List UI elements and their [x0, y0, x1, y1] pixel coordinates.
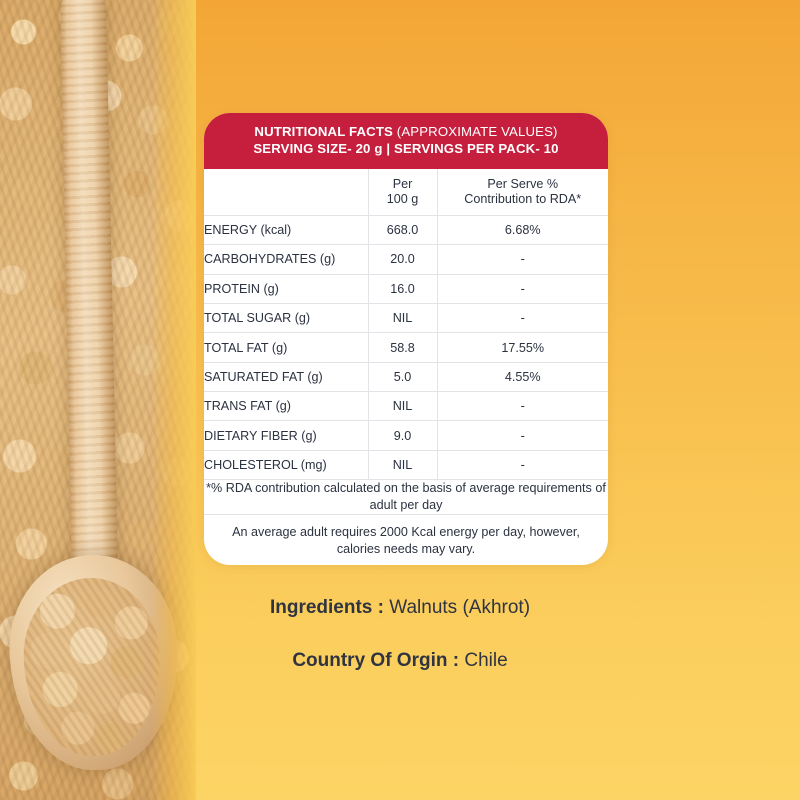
header-rda-line2: Contribution to RDA*	[464, 192, 581, 206]
nutrition-table-body: ENERGY (kcal) 668.0 6.68% CARBOHYDRATES …	[204, 215, 608, 565]
nutrition-header-line-1: NUTRITIONAL FACTS (APPROXIMATE VALUES)	[214, 124, 598, 141]
table-row: TOTAL FAT (g) 58.8 17.55%	[204, 333, 608, 362]
header-per-100g-line1: Per	[393, 177, 413, 191]
nutrient-rda: 17.55%	[437, 333, 608, 362]
nutrition-table-head: Per 100 g Per Serve % Contribution to RD…	[204, 169, 608, 215]
nutrient-rda: -	[437, 274, 608, 303]
nutrient-per-100g: NIL	[368, 303, 437, 332]
nutrient-per-100g: 20.0	[368, 245, 437, 274]
table-row: DIETARY FIBER (g) 9.0 -	[204, 421, 608, 450]
nutrition-table: Per 100 g Per Serve % Contribution to RD…	[204, 169, 608, 565]
table-row: CHOLESTEROL (mg) NIL -	[204, 450, 608, 479]
header-rda-line1: Per Serve %	[487, 177, 558, 191]
header-rda: Per Serve % Contribution to RDA*	[437, 169, 608, 215]
rda-note-row: *% RDA contribution calculated on the ba…	[204, 480, 608, 515]
nutrient-per-100g: 16.0	[368, 274, 437, 303]
nutrient-rda: -	[437, 392, 608, 421]
country-label: Country Of Orgin :	[292, 650, 464, 671]
table-row: TOTAL SUGAR (g) NIL -	[204, 303, 608, 332]
nutrient-rda: -	[437, 450, 608, 479]
header-per-100g: Per 100 g	[368, 169, 437, 215]
table-header-row: Per 100 g Per Serve % Contribution to RD…	[204, 169, 608, 215]
table-row: ENERGY (kcal) 668.0 6.68%	[204, 215, 608, 244]
nutrient-name: TRANS FAT (g)	[204, 392, 368, 421]
nutritional-facts-title: NUTRITIONAL FACTS	[254, 124, 393, 139]
nutrient-name: DIETARY FIBER (g)	[204, 421, 368, 450]
nutrient-name: CARBOHYDRATES (g)	[204, 245, 368, 274]
ingredients-label: Ingredients :	[270, 597, 389, 618]
table-row: CARBOHYDRATES (g) 20.0 -	[204, 245, 608, 274]
energy-note-row: An average adult requires 2000 Kcal ener…	[204, 515, 608, 565]
nutrient-rda: -	[437, 245, 608, 274]
product-photo-strip	[0, 0, 196, 800]
header-per-100g-line2: 100 g	[387, 192, 419, 206]
ingredients-value: Walnuts (Akhrot)	[389, 597, 530, 618]
table-row: PROTEIN (g) 16.0 -	[204, 274, 608, 303]
nutrient-name: PROTEIN (g)	[204, 274, 368, 303]
nutritional-facts-subtitle: (APPROXIMATE VALUES)	[393, 124, 558, 139]
table-row: SATURATED FAT (g) 5.0 4.55%	[204, 362, 608, 391]
table-row: TRANS FAT (g) NIL -	[204, 392, 608, 421]
nutrient-per-100g: 9.0	[368, 421, 437, 450]
country-value: Chile	[464, 650, 507, 671]
nutrient-per-100g: NIL	[368, 450, 437, 479]
energy-note-text: An average adult requires 2000 Kcal ener…	[204, 515, 608, 565]
nutrient-per-100g: 5.0	[368, 362, 437, 391]
nutrient-rda: 4.55%	[437, 362, 608, 391]
nutrient-rda: -	[437, 303, 608, 332]
nutrient-name: ENERGY (kcal)	[204, 215, 368, 244]
nutrient-per-100g: NIL	[368, 392, 437, 421]
photo-fade-edge	[150, 0, 196, 800]
nutrient-name: TOTAL FAT (g)	[204, 333, 368, 362]
nutrition-facts-card: NUTRITIONAL FACTS (APPROXIMATE VALUES) S…	[204, 113, 608, 565]
country-of-origin-line: Country Of Orgin : Chile	[0, 650, 800, 672]
nutrient-name: TOTAL SUGAR (g)	[204, 303, 368, 332]
nutrient-rda: -	[437, 421, 608, 450]
nutrient-name: SATURATED FAT (g)	[204, 362, 368, 391]
nutrient-per-100g: 58.8	[368, 333, 437, 362]
nutrient-per-100g: 668.0	[368, 215, 437, 244]
serving-info-line: SERVING SIZE- 20 g | SERVINGS PER PACK- …	[214, 141, 598, 158]
header-nutrient	[204, 169, 368, 215]
ingredients-line: Ingredients : Walnuts (Akhrot)	[0, 597, 800, 619]
serving-info-text: SERVING SIZE- 20 g | SERVINGS PER PACK- …	[253, 141, 558, 156]
nutrient-name: CHOLESTEROL (mg)	[204, 450, 368, 479]
rda-note-text: *% RDA contribution calculated on the ba…	[204, 480, 608, 515]
nutrition-card-header: NUTRITIONAL FACTS (APPROXIMATE VALUES) S…	[204, 113, 608, 169]
nutrient-rda: 6.68%	[437, 215, 608, 244]
